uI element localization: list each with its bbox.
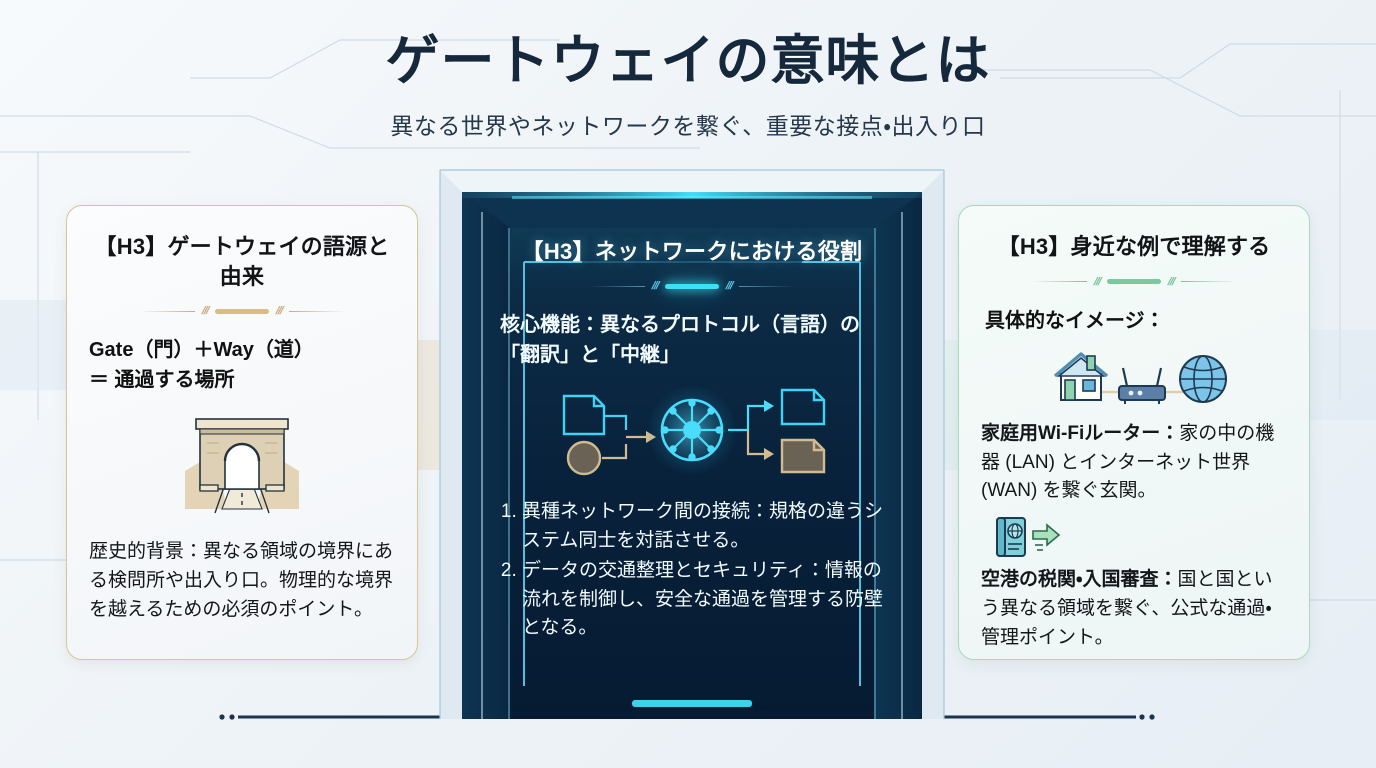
left-card-icon-row	[89, 409, 395, 517]
divider-bar	[1107, 279, 1161, 284]
protocol-translation-hub-icon	[542, 382, 842, 478]
right-card-item-1-label: 家庭用Wi-Fiルーター：	[981, 423, 1179, 444]
page-header: ゲートウェイの意味とは 異なる世界やネットワークを繋ぐ、重要な接点・出入り口	[0, 0, 1376, 141]
left-card-heading: 【H3】ゲートウェイの語源と由来	[89, 232, 395, 291]
center-card-icon-row	[494, 382, 890, 478]
right-card-item-2: 空港の税関・入国審査：国と国という異なる領域を繋ぐ、公式な通過・管理ポイント。	[981, 566, 1287, 653]
divider-slashes-left: ///	[650, 280, 660, 292]
divider-line-right	[1181, 281, 1237, 282]
card-origin-of-gateway: 【H3】ゲートウェイの語源と由来 /// /// Gate（門）＋Way（道） …	[66, 205, 418, 660]
left-card-body: 歴史的背景：異なる領域の境界にある検問所や出入り口。物理的な境界を越えるための必…	[89, 538, 395, 625]
passport-arrow-icon	[991, 514, 1063, 560]
card-familiar-examples: 【H3】身近な例で理解する /// /// 具体的なイメージ：	[958, 205, 1310, 660]
portal-content: 【H3】ネットワークにおける役割 /// /// 核心機能：異なるプロトコル（言…	[494, 216, 890, 686]
divider-slashes-left: ///	[200, 305, 210, 317]
divider-line-right	[289, 311, 345, 312]
center-card-divider: /// ///	[494, 280, 890, 292]
list-item: 異種ネットワーク間の接続：規格の違うシステム同士を対話させる。	[522, 498, 884, 555]
divider-line-left	[1031, 281, 1087, 282]
center-card-heading: 【H3】ネットワークにおける役割	[522, 234, 863, 266]
divider-slashes-right: ///	[274, 305, 284, 317]
page-subtitle: 異なる世界やネットワークを繋ぐ、重要な接点・出入り口	[0, 107, 1376, 141]
divider-bar	[665, 284, 719, 289]
home-router-globe-icon	[1039, 346, 1229, 408]
divider-slashes-left: ///	[1092, 276, 1102, 288]
divider-line-left	[589, 286, 645, 287]
page-title: ゲートウェイの意味とは	[0, 32, 1376, 91]
center-card-lead: 核心機能：異なるプロトコル（言語）の「翻訳」と「中継」	[494, 310, 890, 370]
divider-line-right	[739, 286, 795, 287]
card-network-role: 【H3】ネットワークにおける役割 /// /// 核心機能：異なるプロトコル（言…	[432, 166, 952, 719]
left-card-divider: /// ///	[89, 305, 395, 317]
divider-slashes-right: ///	[1166, 276, 1176, 288]
right-card-item-2-label: 空港の税関・入国審査：	[981, 569, 1177, 590]
right-card-heading: 【H3】身近な例で理解する	[998, 232, 1271, 262]
triumphal-arch-icon	[167, 409, 317, 517]
divider-slashes-right: ///	[724, 280, 734, 292]
center-card-list: 異種ネットワーク間の接続：規格の違うシステム同士を対話させる。 データの交通整理…	[494, 498, 890, 645]
right-card-divider: /// ///	[981, 276, 1287, 288]
divider-bar	[215, 309, 269, 314]
list-item: データの交通整理とセキュリティ：情報の流れを制御し、安全な通過を管理する防壁とな…	[522, 557, 884, 643]
divider-line-left	[139, 311, 195, 312]
right-card-network-icon-row	[981, 346, 1287, 408]
right-card-item-1: 家庭用Wi-Fiルーター：家の中の機器 (LAN) とインターネット世界 (WA…	[981, 420, 1287, 507]
left-card-lead: Gate（門）＋Way（道） ＝ 通過する場所	[89, 335, 395, 395]
right-card-passport-icon-row	[981, 514, 1287, 560]
right-card-lead: 具体的なイメージ：	[981, 306, 1287, 336]
